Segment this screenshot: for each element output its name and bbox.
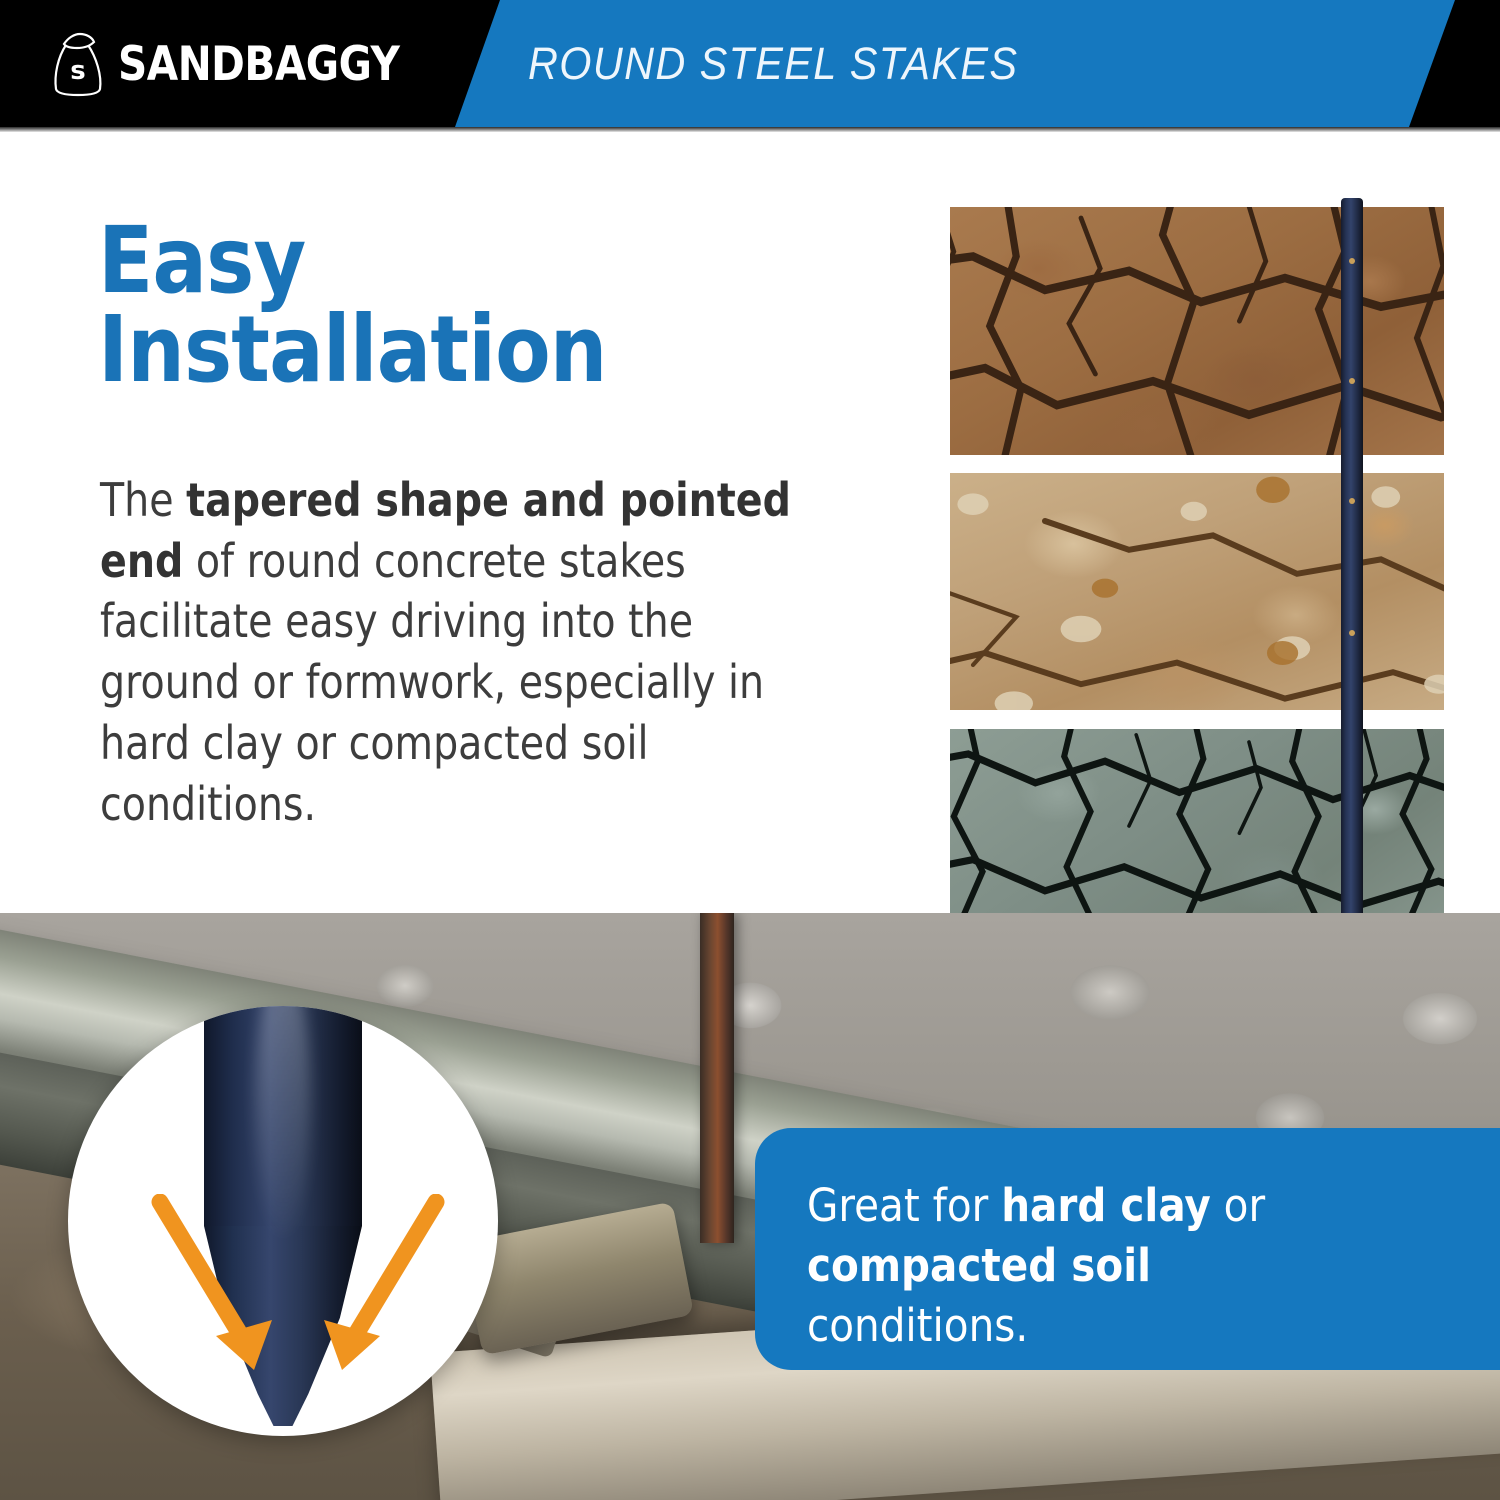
header-divider — [0, 127, 1500, 132]
svg-text:s: s — [70, 56, 85, 86]
header-bar: s SANDBAGGY ROUND STEEL STAKES — [0, 0, 1500, 127]
body-paragraph: The tapered shape and pointed end of rou… — [100, 470, 814, 834]
sandbag-icon: s — [50, 31, 106, 97]
callout-banner: Great for hard clay or compacted soil co… — [755, 1128, 1500, 1370]
infographic-page: s SANDBAGGY ROUND STEEL STAKES Easy Inst… — [0, 0, 1500, 1500]
round-steel-stake — [1341, 198, 1363, 943]
soil-photo-cracked-red-clay — [950, 207, 1444, 455]
stake-hole-icon — [1349, 258, 1355, 264]
arrow-down-left-icon — [316, 1194, 446, 1384]
stake-tip-closeup-inset — [68, 1006, 498, 1436]
brand-name: SANDBAGGY — [118, 41, 399, 88]
rusty-stake — [700, 913, 734, 1243]
brand-logo: s SANDBAGGY — [50, 24, 411, 104]
stake-hole-icon — [1349, 378, 1355, 384]
stake-hole-icon — [1349, 498, 1355, 504]
product-title: ROUND STEEL STAKES — [528, 38, 1018, 90]
stake-hole-icon — [1349, 630, 1355, 636]
crack-pattern-icon — [950, 473, 1444, 710]
callout-text: Great for hard clay or compacted soil co… — [807, 1176, 1384, 1356]
soil-photo-compacted-tan — [950, 473, 1444, 710]
arrow-down-right-icon — [150, 1194, 280, 1384]
crack-pattern-icon — [950, 207, 1444, 455]
page-headline: Easy Installation — [98, 216, 607, 394]
